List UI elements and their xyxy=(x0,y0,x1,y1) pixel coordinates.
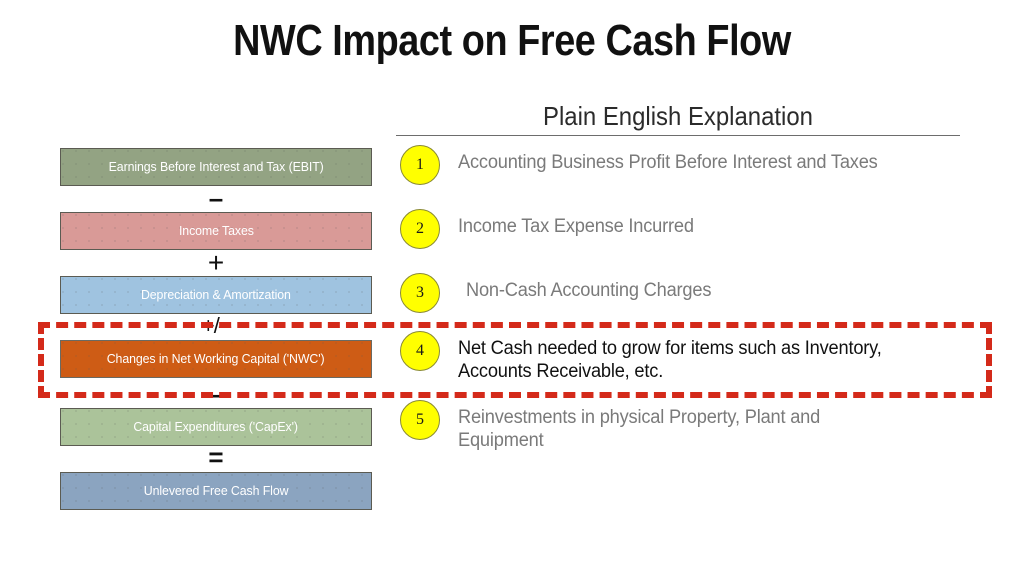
explanation-row-1: 1 Accounting Business Profit Before Inte… xyxy=(400,151,980,185)
explanation-text-2: Income Tax Expense Incurred xyxy=(458,215,694,238)
step-badge-4: 4 xyxy=(400,331,440,371)
flow-box-changes-in-nwc: Changes in Net Working Capital ('NWC') xyxy=(60,340,372,378)
explanation-row-2: 2 Income Tax Expense Incurred xyxy=(400,215,980,249)
flow-box-depreciation-amortization: Depreciation & Amortization xyxy=(60,276,372,314)
flow-box-ebit: Earnings Before Interest and Tax (EBIT) xyxy=(60,148,372,186)
explanation-row-3: 3 Non-Cash Accounting Charges xyxy=(400,279,980,313)
flow-box-capital-expenditures: Capital Expenditures ('CapEx') xyxy=(60,408,372,446)
flow-box-unlevered-free-cash-flow: Unlevered Free Cash Flow xyxy=(60,472,372,510)
explanation-row-5: 5 Reinvestments in physical Property, Pl… xyxy=(400,406,980,452)
step-badge-3: 3 xyxy=(400,273,440,313)
explanation-column-header: Plain English Explanation xyxy=(419,101,938,132)
explanation-column-divider xyxy=(396,135,960,136)
operator-plus-minus: +/– xyxy=(60,315,372,337)
explanation-text-1: Accounting Business Profit Before Intere… xyxy=(458,151,878,174)
explanation-row-4: 4 Net Cash needed to grow for items such… xyxy=(400,337,980,383)
flow-box-changes-in-nwc-label: Changes in Net Working Capital ('NWC') xyxy=(107,352,325,366)
explanation-text-4: Net Cash needed to grow for items such a… xyxy=(458,337,882,383)
flow-box-depreciation-amortization-label: Depreciation & Amortization xyxy=(141,288,291,302)
step-badge-2: 2 xyxy=(400,209,440,249)
page-title: NWC Impact on Free Cash Flow xyxy=(72,16,953,66)
step-badge-5: 5 xyxy=(400,400,440,440)
operator-minus-1: – xyxy=(60,185,372,211)
explanation-text-5: Reinvestments in physical Property, Plan… xyxy=(458,406,820,452)
flow-box-capital-expenditures-label: Capital Expenditures ('CapEx') xyxy=(134,420,299,434)
flow-box-income-taxes: Income Taxes xyxy=(60,212,372,250)
flow-box-unlevered-free-cash-flow-label: Unlevered Free Cash Flow xyxy=(144,484,289,498)
flow-box-income-taxes-label: Income Taxes xyxy=(179,224,254,238)
operator-plus: + xyxy=(60,249,372,277)
explanation-text-3: Non-Cash Accounting Charges xyxy=(466,279,711,302)
slide-canvas: NWC Impact on Free Cash Flow Plain Engli… xyxy=(0,0,1024,576)
operator-minus-2: – xyxy=(60,381,372,407)
operator-equals: = xyxy=(60,444,372,470)
flow-box-ebit-label: Earnings Before Interest and Tax (EBIT) xyxy=(108,160,323,174)
step-badge-1: 1 xyxy=(400,145,440,185)
